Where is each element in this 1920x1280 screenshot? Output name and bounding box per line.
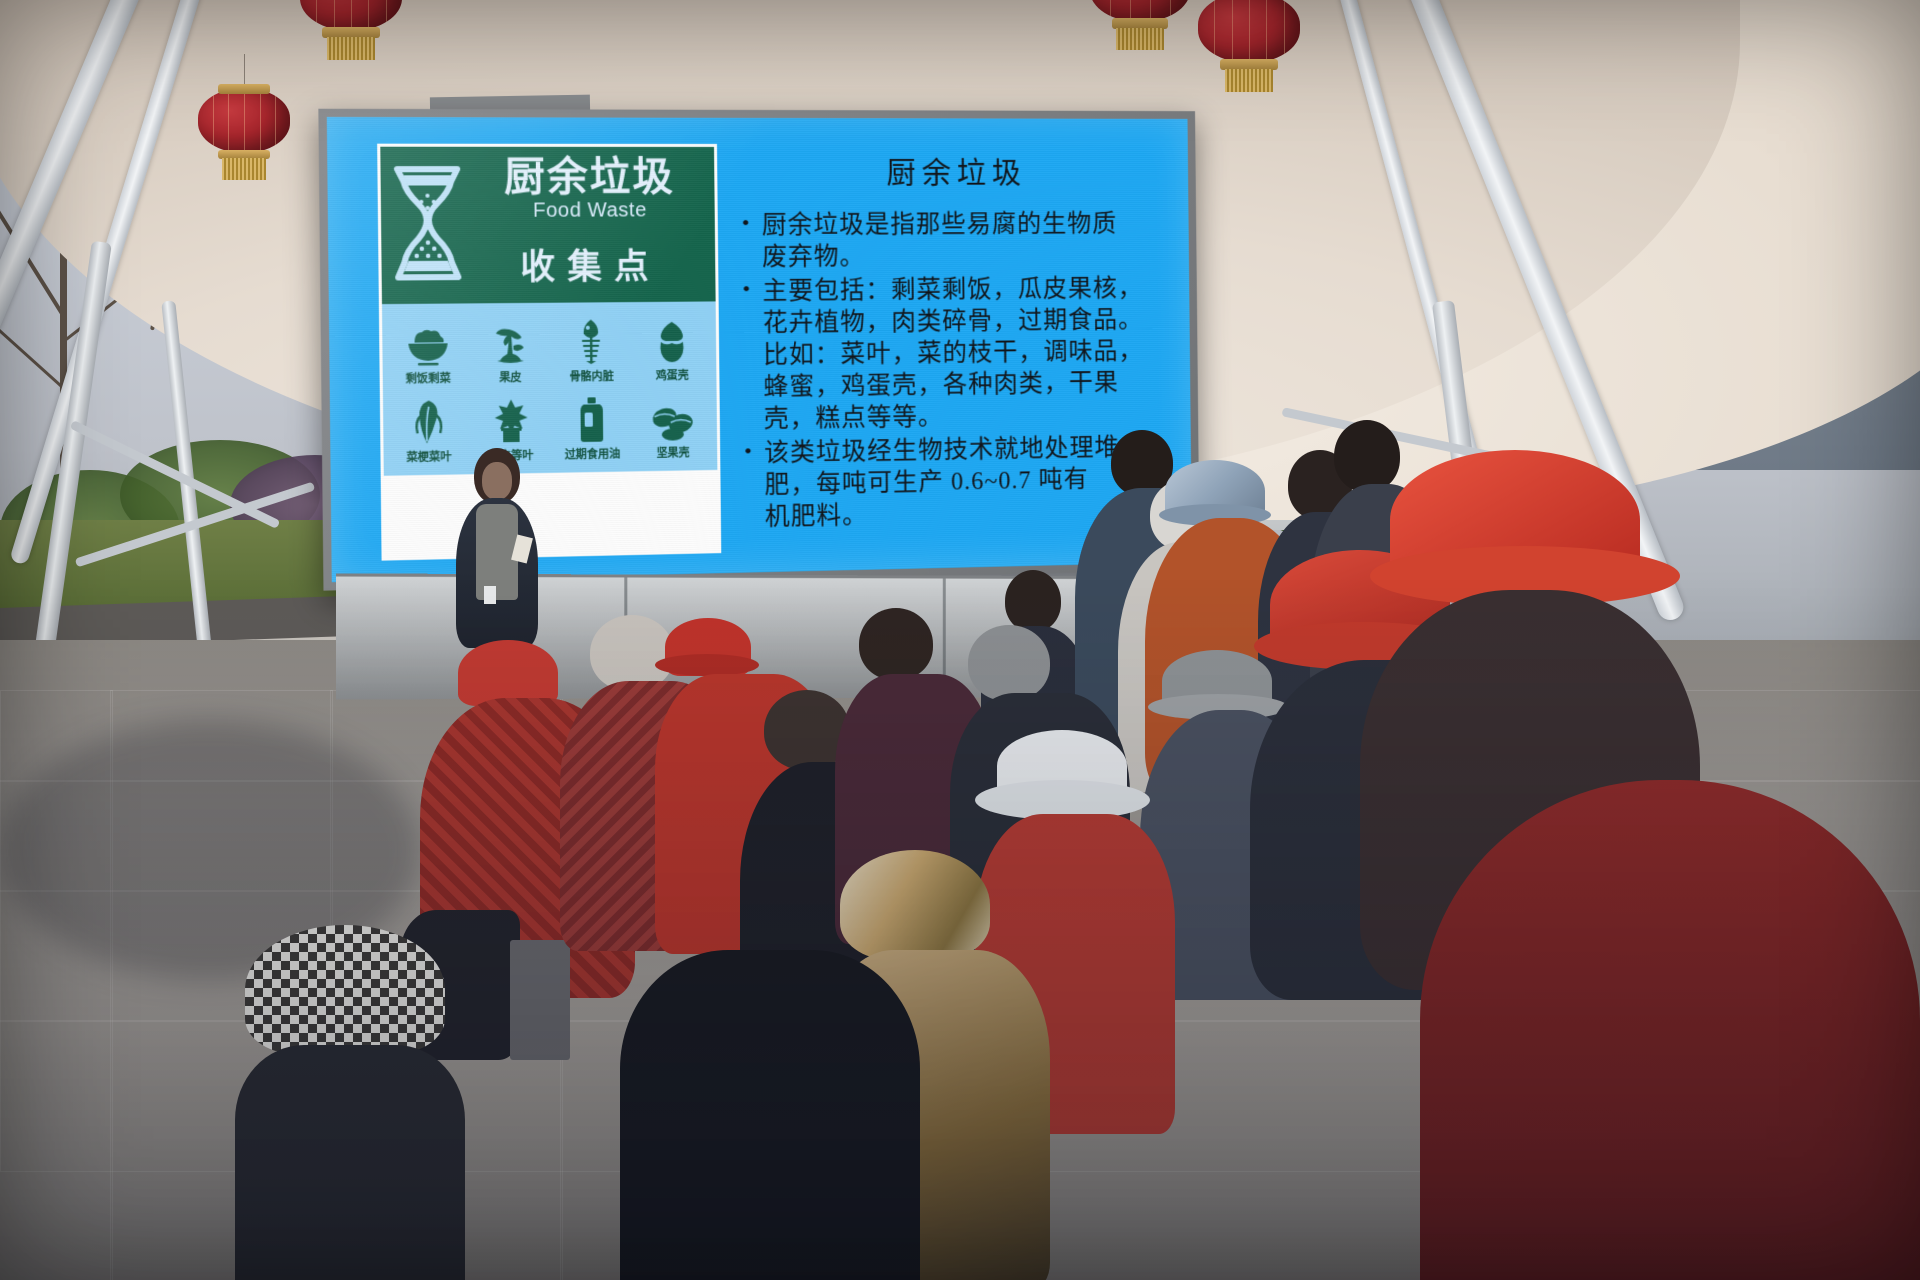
used-cooking-oil-icon xyxy=(555,394,629,444)
bullet-line: 比如：菜叶，菜的枝干，调味品， xyxy=(763,338,1143,369)
fish-bone-icon xyxy=(554,316,628,365)
bullet-line: 壳，糕点等等。 xyxy=(764,404,944,434)
sign-title-cn: 厨余垃圾 xyxy=(471,157,706,198)
red-lantern xyxy=(198,88,290,176)
category-label: 骨骼内脏 xyxy=(555,368,628,385)
red-lantern xyxy=(1198,0,1300,88)
category-item: 剩饭剩菜 xyxy=(390,318,465,387)
photo-scene: 厨余垃圾 Food Waste 收集点 xyxy=(0,0,1920,1280)
bullet-line: 蜂蜜，鸡蛋壳，各种肉类，干果 xyxy=(763,370,1119,401)
category-label: 鸡蛋壳 xyxy=(636,367,709,384)
fruit-peel-icon xyxy=(473,317,547,366)
floral-headscarf xyxy=(840,850,990,960)
flower-plant-icon xyxy=(474,395,548,445)
presenter-vest xyxy=(476,504,518,600)
category-row-1: 剩饭剩菜 xyxy=(386,316,712,387)
sign-title-en: Food Waste xyxy=(472,199,707,223)
sign-header: 厨余垃圾 Food Waste 收集点 xyxy=(380,147,715,304)
vegetable-stalk-icon xyxy=(391,396,466,446)
audience-member xyxy=(620,950,920,1280)
category-row-2: 菜梗菜叶 花卉等叶 xyxy=(387,393,713,466)
audience-member xyxy=(235,925,465,1280)
category-item: 鸡蛋壳 xyxy=(635,316,708,384)
presenter-badge xyxy=(484,586,496,604)
sign-text-block: 厨余垃圾 Food Waste 收集点 xyxy=(471,157,707,289)
category-item: 果皮 xyxy=(473,317,548,386)
bullet-line: 废弃物。 xyxy=(762,244,865,272)
bullet-line: 肥，每吨可生产 0.6~0.7 吨有 xyxy=(764,466,1088,499)
category-label: 过期食用油 xyxy=(556,445,629,462)
category-label: 坚果壳 xyxy=(637,444,710,461)
slide-bullet: 厨余垃圾是指那些易腐的生物质 废弃物。 xyxy=(736,209,1174,274)
hourglass-food-waste-icon xyxy=(389,161,467,286)
red-lantern xyxy=(1090,0,1190,46)
egg-shell-icon xyxy=(635,316,708,365)
red-knit-hat xyxy=(458,640,558,706)
category-label: 剩饭剩菜 xyxy=(391,370,466,387)
food-waste-sign: 厨余垃圾 Food Waste 收集点 xyxy=(377,144,721,561)
houndstooth-flat-cap xyxy=(245,925,445,1055)
sign-categories: 剩饭剩菜 xyxy=(382,301,717,475)
category-label: 果皮 xyxy=(473,369,547,386)
bullet-line: 机肥料。 xyxy=(765,502,868,531)
audience-member xyxy=(1420,780,1920,1280)
red-lantern xyxy=(300,0,402,56)
bullet-line: 主要包括：剩菜剩饭，瓜皮果核， xyxy=(762,275,1142,305)
slide-bullet: 主要包括：剩菜剩饭，瓜皮果核， 花卉植物，肉类碎骨，过期食品。 比如：菜叶，菜的… xyxy=(736,273,1175,436)
rice-bowl-icon xyxy=(390,318,465,368)
slide-title: 厨余垃圾 xyxy=(735,148,1173,192)
category-item: 骨骼内脏 xyxy=(554,316,628,384)
folding-stool xyxy=(510,940,570,1060)
bullet-line: 花卉植物，肉类碎骨，过期食品。 xyxy=(763,307,1143,337)
category-item: 坚果壳 xyxy=(636,393,709,461)
category-item: 过期食用油 xyxy=(555,394,629,463)
bullet-line: 该类垃圾经生物技术就地处理堆 xyxy=(764,434,1120,467)
presenter-face xyxy=(482,462,512,500)
nut-shell-icon xyxy=(636,393,709,442)
sign-subtitle-cn: 收集点 xyxy=(472,238,707,289)
bullet-line: 厨余垃圾是指那些易腐的生物质 xyxy=(762,211,1118,239)
